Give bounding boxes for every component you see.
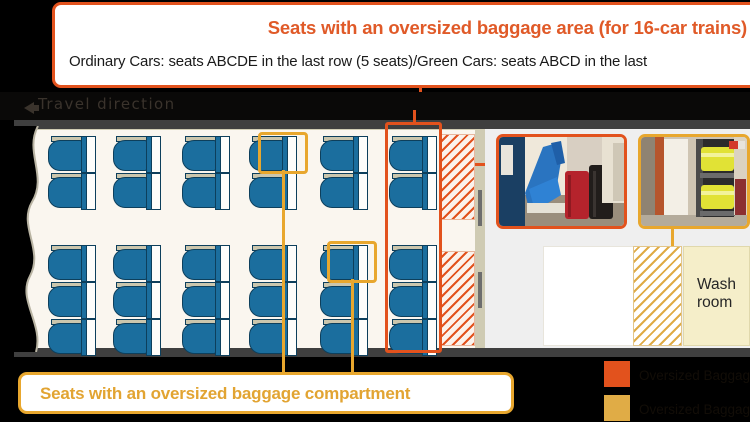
baggage-compartment-highlight-bottom [327,241,377,283]
seat-cushion [113,286,147,317]
seat-cushion [113,140,147,171]
seat-column-4-bottom[interactable] [249,245,297,356]
gold-connector-line-2 [351,279,354,373]
seat[interactable] [113,282,161,319]
window-panel [358,136,368,173]
seat[interactable] [48,173,96,210]
torn-edge-decoration [14,126,48,352]
baggage-compartment-highlight-top [258,132,308,174]
seat-cushion [182,323,216,354]
infographic-canvas: Seats with an oversized baggage area (fo… [0,0,750,422]
window-panel [287,282,297,319]
last-row-connector-up [413,110,416,124]
oversized-baggage-area-photo[interactable] [496,134,627,229]
oversized-baggage-compartment-hatch [633,246,682,346]
seat-column-1-top[interactable] [48,136,96,210]
window-panel [86,319,96,356]
legend-swatch-baggage-area [604,361,630,387]
window-panel [86,282,96,319]
seat[interactable] [48,245,96,282]
seat-cushion [182,177,216,208]
seat[interactable] [320,136,368,173]
banner-subtitle: Ordinary Cars: seats ABCDE in the last r… [69,53,647,70]
seat[interactable] [113,245,161,282]
seat[interactable] [48,319,96,356]
oversized-baggage-compartment-photo[interactable] [638,134,750,229]
travel-direction-label: Travel direction [38,95,176,113]
compartment-photo-connector [671,229,674,247]
seat[interactable] [320,282,368,319]
window-panel [287,173,297,210]
seat[interactable] [182,173,230,210]
seat-cushion [113,323,147,354]
oversized-baggage-area-hatch-bottom [441,251,475,346]
seat-column-3-top[interactable] [182,136,230,210]
seat[interactable] [182,319,230,356]
seat[interactable] [182,245,230,282]
seat[interactable] [249,282,297,319]
seat[interactable] [182,282,230,319]
window-panel [151,136,161,173]
seat[interactable] [48,136,96,173]
seat[interactable] [113,136,161,173]
seat[interactable] [113,319,161,356]
seat-cushion [113,249,147,280]
banner-title: Seats with an oversized baggage area (fo… [55,17,747,39]
seat-cushion [320,140,354,171]
door-marker-bottom [478,272,482,308]
window-panel [220,245,230,282]
seat-cushion [249,177,283,208]
seat-column-2-top[interactable] [113,136,161,210]
seat[interactable] [249,173,297,210]
window-panel [151,173,161,210]
seat-cushion [320,286,354,317]
seat-cushion [48,249,82,280]
seat-cushion [48,323,82,354]
seat-cushion [320,323,354,354]
window-panel [287,245,297,282]
window-panel [287,319,297,356]
window-panel [220,319,230,356]
window-panel [358,282,368,319]
window-panel [86,173,96,210]
bottom-caption-box: Seats with an oversized baggage compartm… [18,372,514,414]
window-panel [220,282,230,319]
seat-column-1-bottom[interactable] [48,245,96,356]
window-panel [86,136,96,173]
seat[interactable] [113,173,161,210]
seat[interactable] [320,173,368,210]
seat-cushion [320,177,354,208]
window-panel [220,173,230,210]
seat-cushion [249,286,283,317]
window-panel [151,319,161,356]
car-wall-top [14,120,750,129]
oversized-baggage-area-hatch-top [441,134,475,220]
seat-cushion [182,249,216,280]
seat-cushion [48,140,82,171]
seat-cushion [48,177,82,208]
window-panel [220,136,230,173]
window-panel [151,245,161,282]
legend-label-baggage-area: Oversized Baggage Area [639,368,750,383]
window-panel [86,245,96,282]
seat-cushion [113,177,147,208]
legend-label-baggage-compartment: Oversized Baggage Compartment [639,402,750,417]
seat-cushion [182,140,216,171]
seat-column-5-top[interactable] [320,136,368,210]
seat[interactable] [249,319,297,356]
window-panel [358,319,368,356]
seat[interactable] [249,245,297,282]
legend-swatch-baggage-compartment [604,395,630,421]
door-marker-top [478,190,482,226]
window-panel [151,282,161,319]
seat[interactable] [320,319,368,356]
seat[interactable] [182,136,230,173]
washroom-label-line2: room [697,294,736,312]
washroom-label: Wash room [697,276,736,312]
seat-cushion [249,249,283,280]
gold-connector-line-1 [282,170,285,373]
seat-column-2-bottom[interactable] [113,245,161,356]
last-row-highlight-box [385,122,442,353]
seat-cushion [48,286,82,317]
photo-illustration-baggage-area [499,137,624,226]
washroom-label-line1: Wash [697,276,736,294]
photo-illustration-baggage-compartment [641,137,747,226]
seat-column-3-bottom[interactable] [182,245,230,356]
seat[interactable] [48,282,96,319]
bottom-caption-text: Seats with an oversized baggage compartm… [40,384,410,404]
top-callout-banner: Seats with an oversized baggage area (fo… [52,2,750,88]
window-panel [358,173,368,210]
seat-cushion [249,323,283,354]
seat-cushion [182,286,216,317]
